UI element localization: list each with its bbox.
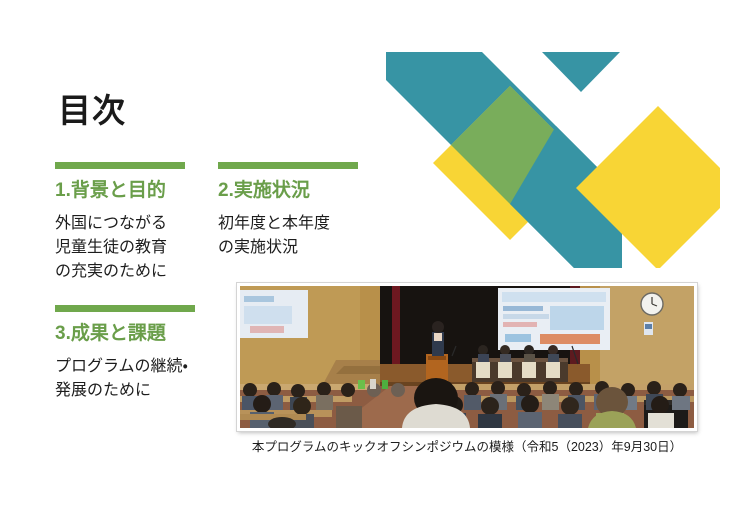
section-1-heading: 1.背景と目的 (55, 180, 195, 203)
section-rule (218, 162, 358, 169)
section-1-body-line: 外国につながる (55, 212, 195, 236)
section-1-body: 外国につながる 児童生徒の教育 の充実のために (55, 212, 195, 285)
page-title: 目次 (58, 94, 126, 127)
section-2-heading: 2.実施状況 (218, 180, 363, 203)
section-rule (55, 162, 185, 169)
section-2-body-line: の実施状況 (218, 236, 363, 260)
section-3-body-line: 発展のために (55, 379, 205, 403)
section-2-body-line: 初年度と本年度 (218, 212, 363, 236)
toc-section-3[interactable]: 3.成果と課題 プログラムの継続・ 発展のために (55, 305, 205, 403)
photo-caption: 本プログラムのキックオフシンポジウムの模様（令和5（2023）年9月30日） (237, 439, 697, 455)
section-3-heading: 3.成果と課題 (55, 323, 205, 346)
section-1-body-line: 児童生徒の教育 (55, 236, 195, 260)
toc-section-2[interactable]: 2.実施状況 初年度と本年度 の実施状況 (218, 162, 363, 260)
symposium-photo: 本プログラムのキックオフシンポジウムの会場写真（講演者が演台で話し、壇上にパネリ… (237, 283, 697, 431)
section-1-body-line: の充実のために (55, 260, 195, 284)
slide-canvas: 目次 1.背景と目的 外国につながる 児童生徒の教育 の充実のために 2.実施状… (0, 0, 736, 520)
logo-artwork (370, 18, 720, 268)
diamond-chevron-logo (370, 18, 720, 268)
section-2-body: 初年度と本年度 の実施状況 (218, 212, 363, 261)
section-3-body-line: プログラムの継続・ (55, 355, 205, 379)
section-rule (55, 305, 195, 312)
section-3-body: プログラムの継続・ 発展のために (55, 355, 205, 404)
toc-section-1[interactable]: 1.背景と目的 外国につながる 児童生徒の教育 の充実のために (55, 162, 195, 285)
